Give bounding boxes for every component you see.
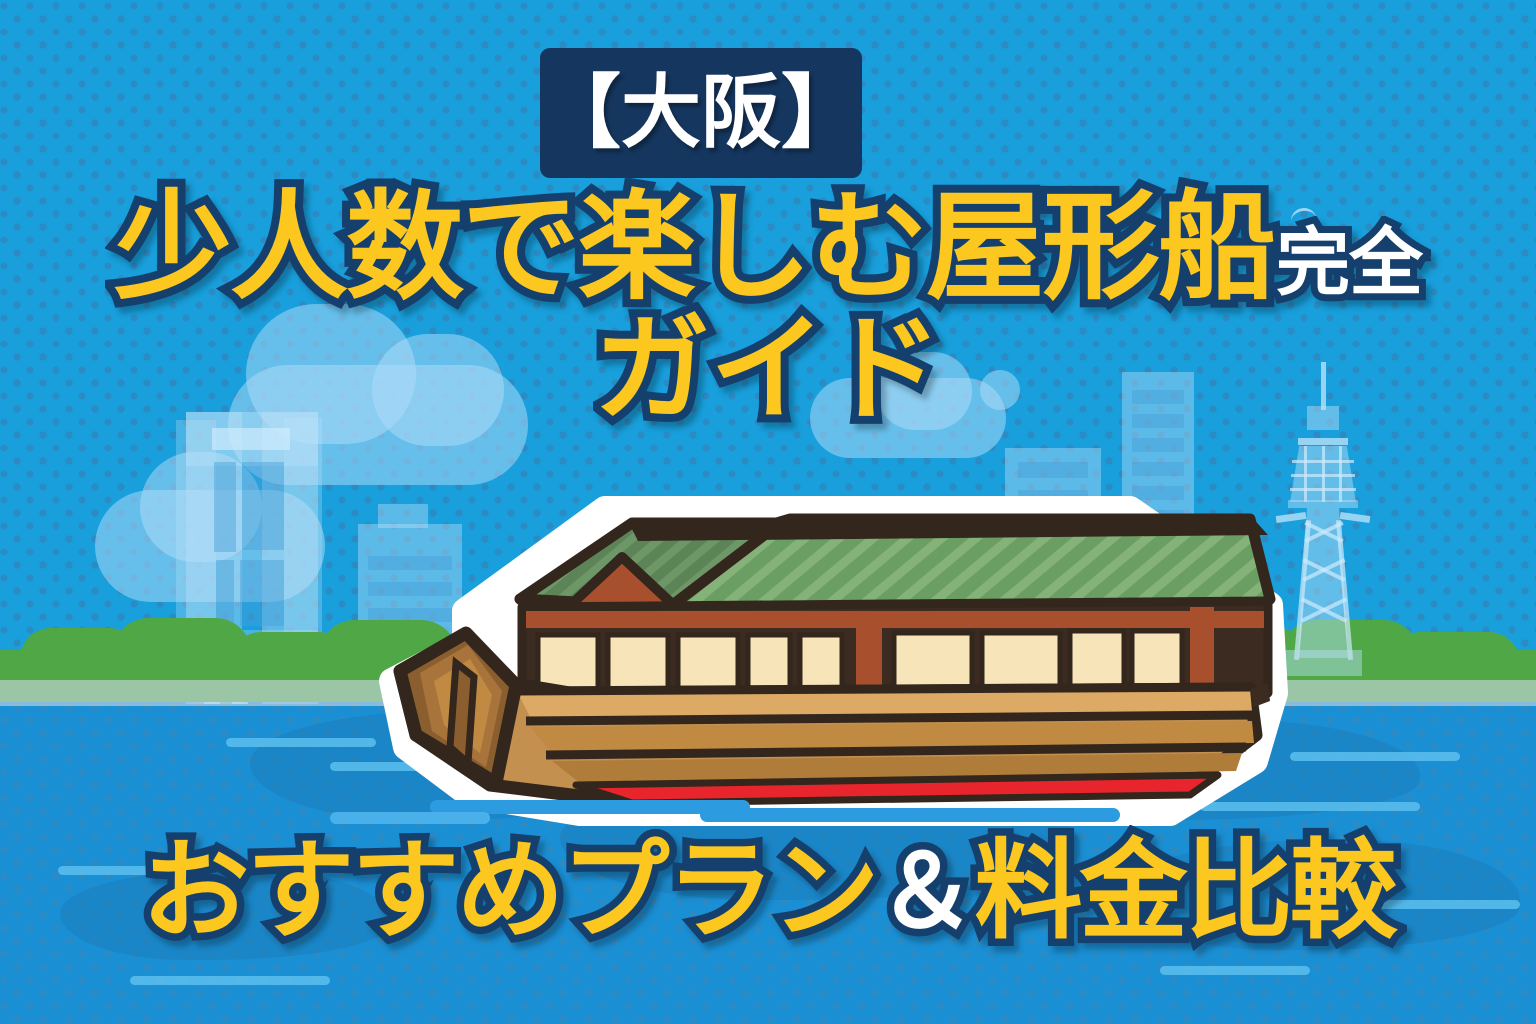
foreground-wave-front-2 — [700, 808, 1120, 822]
headline-line-1: 少人数で楽しむ屋形船 完全 — [0, 188, 1536, 306]
headline-line-1-main: 少人数で楽しむ屋形船 — [114, 188, 1274, 306]
foreground-wave-front-3 — [330, 812, 490, 824]
tsutenkaku-deck-grid-v2 — [1322, 446, 1325, 502]
office-tower-mid-windows-1 — [1018, 462, 1088, 478]
subheadline-row: おすすめプラン ＆ 料金比較 — [0, 838, 1536, 946]
tsutenkaku-deck-ring — [1298, 438, 1348, 445]
tsutenkaku-arm-right — [1340, 512, 1371, 523]
umeda-sky-building-glass-a — [214, 462, 236, 552]
office-tower-right-windows-3 — [1132, 438, 1184, 452]
region-badge: 【大阪】 — [540, 48, 862, 178]
umeda-sky-building-glass-b — [242, 462, 284, 550]
tsutenkaku-deck-grid-v1 — [1304, 446, 1307, 502]
umeda-sky-building-glass-d — [240, 560, 284, 626]
subheadline-block: おすすめプラン ＆ 料金比較 — [0, 838, 1536, 946]
headline-line-2: ガイド — [0, 312, 1536, 428]
headline-line-2-main: ガイド — [594, 312, 942, 428]
yakatabune-boat-illustration — [370, 495, 1310, 825]
subheadline-right: 料金比較 — [975, 838, 1395, 946]
tsutenkaku-deck-grid-v3 — [1339, 446, 1342, 502]
subheadline-ampersand: ＆ — [877, 842, 975, 942]
headline-line-1-suffix: 完全 — [1276, 226, 1422, 300]
region-badge-label: 【大阪】 — [541, 73, 861, 153]
umeda-sky-building-roof-garden — [212, 428, 290, 450]
subheadline-left: おすすめプラン — [141, 838, 876, 946]
office-tower-right-windows-4 — [1132, 462, 1184, 476]
headline-block: 少人数で楽しむ屋形船 完全 ガイド — [0, 188, 1536, 428]
banner-canvas: 【大阪】 少人数で楽しむ屋形船 完全 ガイド おすすめプラン ＆ 料金比較 — [0, 0, 1536, 1024]
